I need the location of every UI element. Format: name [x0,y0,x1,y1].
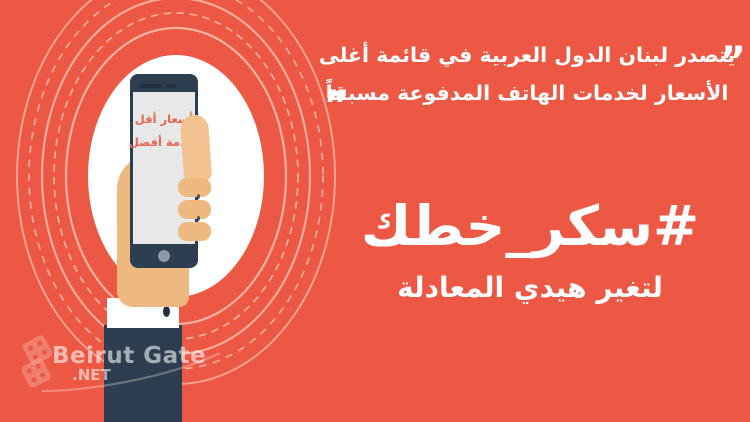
quote-line-2: الأسعار لخدمات الهاتف المدفوعة مسبقاً [312,74,742,112]
text-column: ” ” يتصدر لبنان الدول العربية في قائمة أ… [280,0,750,422]
campaign-tagline: لتغير هيدي المعادلة [320,270,740,306]
quote-line-1: يتصدر لبنان الدول العربية في قائمة أغلى [312,36,742,74]
finger-middle [178,200,211,219]
campaign-graphic: أسعار أقل خدمة أفضل [0,0,750,422]
cuff-button [163,306,170,317]
thumb [180,114,213,184]
suit-sleeve [104,325,182,422]
campaign-hashtag: #سكر_خطك [320,196,740,256]
knuckle-crease-1 [197,194,200,199]
front-camera-icon [167,84,176,88]
speaker-slot-icon [140,84,162,88]
quote-block: يتصدر لبنان الدول العربية في قائمة أغلى … [312,36,742,112]
finger-ring [178,222,211,241]
knuckle-crease-2 [197,216,200,221]
finger-index [178,178,211,197]
home-button-icon[interactable] [158,250,170,262]
